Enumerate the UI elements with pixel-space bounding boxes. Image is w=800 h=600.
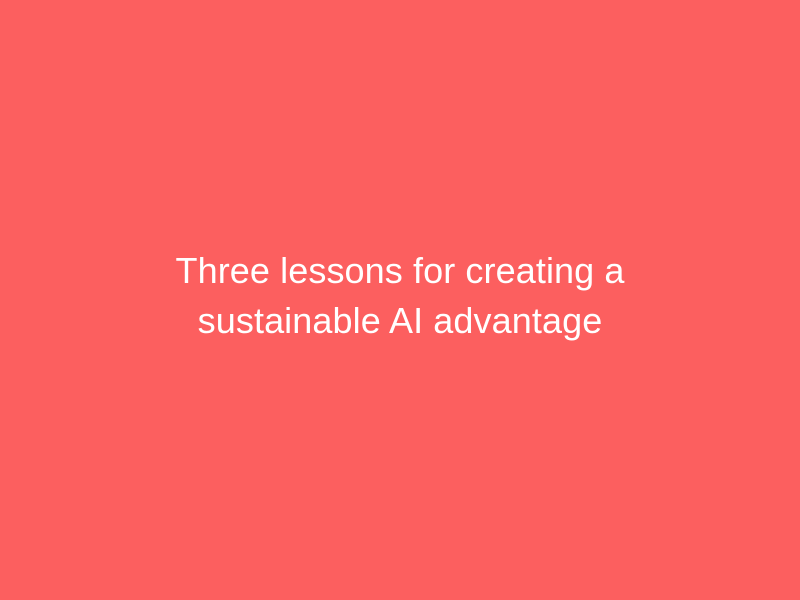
page-title: Three lessons for creating a sustainable… (80, 246, 720, 346)
headline-block: Three lessons for creating a sustainable… (80, 246, 720, 346)
headline-card: Three lessons for creating a sustainable… (0, 0, 800, 600)
